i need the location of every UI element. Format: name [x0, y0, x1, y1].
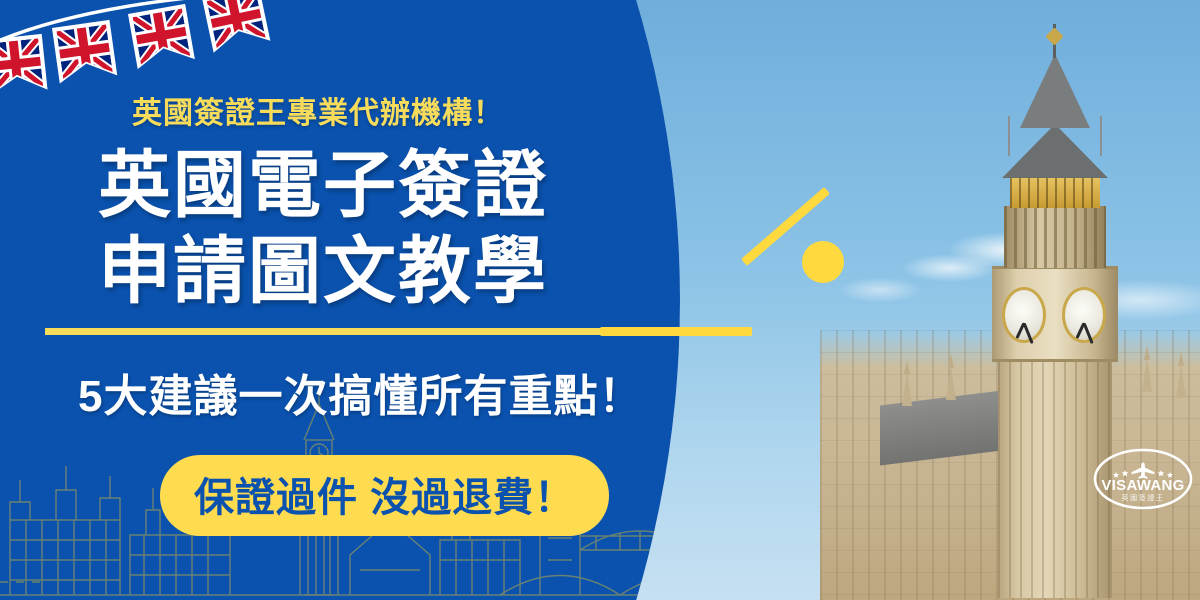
- headline: 英國電子簽證 申請圖文教學: [98, 143, 548, 315]
- headline-line-1: 英國電子簽證: [98, 143, 548, 229]
- spire-icon: [946, 366, 956, 400]
- pointer-dot-icon: [802, 241, 844, 283]
- logo-wordmark: VISAWANG: [1101, 477, 1184, 494]
- guarantee-badge: 保證過件 沒過退費！: [160, 455, 609, 536]
- subheadline-text: 5大建議一次搞懂所有重點！: [78, 360, 643, 424]
- tower-finial-icon: [1053, 24, 1056, 58]
- tower-clock-band: [992, 266, 1118, 362]
- tower-pinnacle-icon: [1100, 116, 1102, 156]
- spire-icon: [902, 372, 912, 406]
- logo-sub-wordmark: 英國簽證王: [1122, 493, 1165, 502]
- spire-icon: [1142, 358, 1152, 392]
- promo-banner: 英國簽證王專業代辦機構！ 英國電子簽證 申請圖文教學 5大建議一次搞懂所有重點！…: [0, 0, 1200, 600]
- spire-icon: [1176, 364, 1186, 398]
- pointer-horizontal-segment: [600, 327, 752, 336]
- headline-line-2: 申請圖文教學: [98, 229, 548, 315]
- kicker-text: 英國簽證王專業代辦機構！: [132, 88, 504, 132]
- tower-belfry: [1004, 206, 1106, 268]
- tower-pinnacle-icon: [1008, 116, 1010, 156]
- big-ben-clock-tower: [990, 38, 1120, 598]
- tower-lower-roof: [1002, 124, 1108, 178]
- tower-gold-gallery: [1010, 176, 1100, 208]
- tower-upper-spire: [1020, 54, 1090, 128]
- visawang-logo: VISAWANG 英國簽證王: [1092, 448, 1194, 510]
- clock-face-left: [1002, 287, 1046, 343]
- clock-face-right: [1062, 287, 1106, 343]
